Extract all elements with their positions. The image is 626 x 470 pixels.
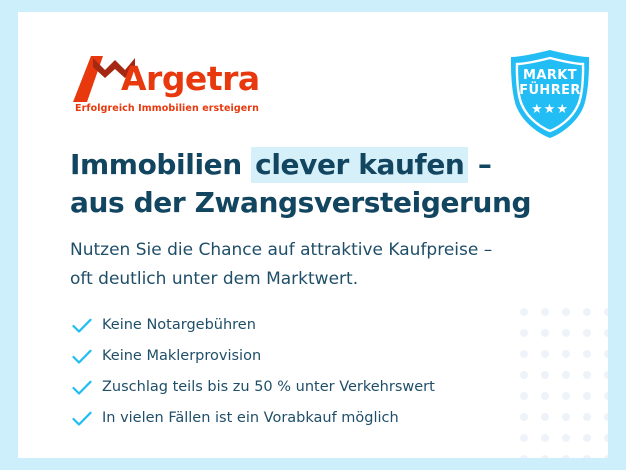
decorative-dot [583,371,591,379]
decorative-dot [562,329,570,337]
benefit-item: Zuschlag teils bis zu 50 % unter Verkehr… [72,372,542,403]
headline-suffix: – [468,148,491,181]
decorative-dot [541,350,549,358]
decorative-dot [541,434,549,442]
decorative-dot [604,413,608,421]
subheading-line-1: Nutzen Sie die Chance auf attraktive Kau… [70,236,570,265]
benefits-list: Keine NotargebührenKeine Maklerprovision… [72,310,542,434]
decorative-dot [604,308,608,316]
banner-card: Argetra Erfolgreich Immobilien ersteiger… [18,12,608,458]
decorative-dot [583,308,591,316]
decorative-dot [562,371,570,379]
subheading: Nutzen Sie die Chance auf attraktive Kau… [70,236,570,294]
badge-line-1: MARKT [507,68,593,83]
badge-stars: ★★★ [507,102,593,115]
decorative-dot [604,392,608,400]
decorative-dot [541,392,549,400]
benefit-item: Keine Maklerprovision [72,341,542,372]
decorative-dot [583,455,591,458]
decorative-dot [562,455,570,458]
argetra-logo[interactable]: Argetra Erfolgreich Immobilien ersteiger… [73,56,273,118]
decorative-dot [562,308,570,316]
decorative-dot [583,434,591,442]
logo-wordmark: Argetra [121,62,260,95]
decorative-dot [541,329,549,337]
market-leader-badge: MARKT FÜHRER ★★★ [507,48,593,140]
decorative-dot [562,350,570,358]
decorative-dot [583,392,591,400]
logo-tagline: Erfolgreich Immobilien ersteigern [75,103,259,114]
check-icon [72,411,102,427]
decorative-dot [562,413,570,421]
decorative-dot [541,308,549,316]
benefit-label: Zuschlag teils bis zu 50 % unter Verkehr… [102,380,435,395]
check-icon [72,349,102,365]
decorative-dot [520,455,528,458]
decorative-dot [604,434,608,442]
badge-line-2: FÜHRER [507,83,593,98]
decorative-dot [583,413,591,421]
benefit-label: Keine Maklerprovision [102,349,261,364]
benefit-item: Keine Notargebühren [72,310,542,341]
benefit-label: Keine Notargebühren [102,318,256,333]
decorative-dot [604,455,608,458]
promo-banner: Argetra Erfolgreich Immobilien ersteiger… [0,0,626,470]
decorative-dot [604,371,608,379]
headline-line-2: aus der Zwangsversteigerung [70,184,570,222]
headline-prefix: Immobilien [70,148,251,181]
decorative-dot [541,413,549,421]
decorative-dot [562,434,570,442]
decorative-dot [541,371,549,379]
decorative-dot [604,350,608,358]
badge-text: MARKT FÜHRER [507,68,593,98]
decorative-dot [541,455,549,458]
headline-line-1: Immobilien clever kaufen – [70,146,570,184]
decorative-dot [520,434,528,442]
decorative-dot [583,350,591,358]
benefit-label: In vielen Fällen ist ein Vorabkauf mögli… [102,411,399,426]
decorative-dot [583,329,591,337]
decorative-dot [604,329,608,337]
headline-highlight: clever kaufen [251,147,468,183]
check-icon [72,380,102,396]
subheading-line-2: oft deutlich unter dem Marktwert. [70,265,570,294]
check-icon [72,318,102,334]
headline: Immobilien clever kaufen – aus der Zwang… [70,146,570,222]
decorative-dot [562,392,570,400]
benefit-item: In vielen Fällen ist ein Vorabkauf mögli… [72,403,542,434]
